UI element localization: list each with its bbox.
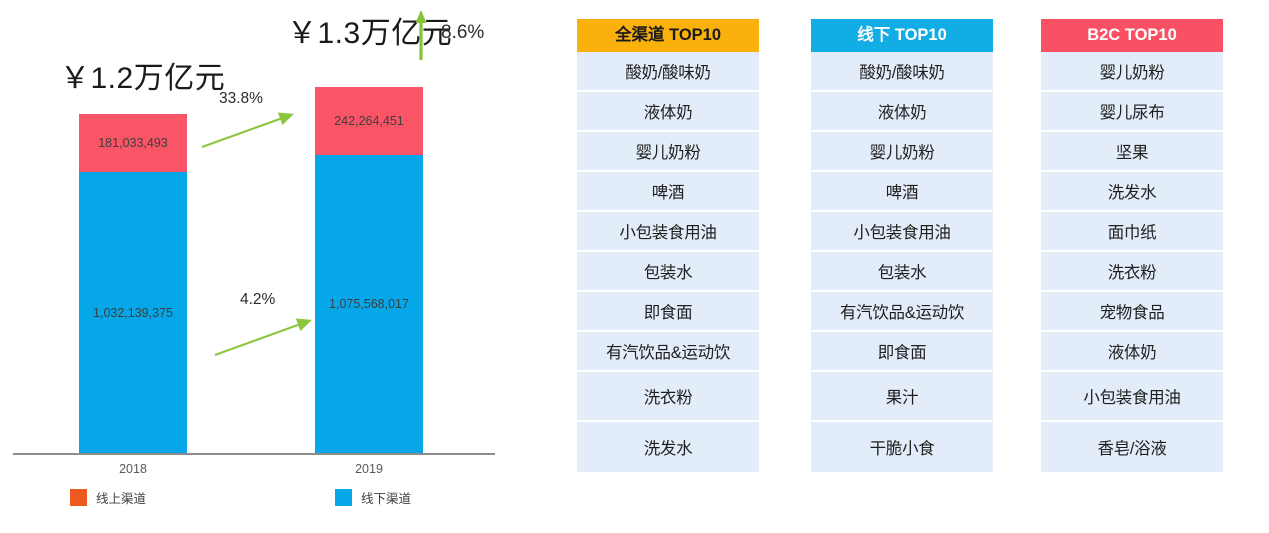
bar-value-online-2018: 181,033,493 (92, 135, 174, 152)
table-cell: 酸奶/酸味奶 (625, 59, 710, 83)
table-row[interactable]: 液体奶 (1041, 332, 1223, 372)
table-row[interactable]: 婴儿尿布 (1041, 92, 1223, 132)
table-cell: 有汽饮品&运动饮 (840, 299, 964, 323)
table-cell: 液体奶 (644, 99, 693, 123)
legend-label-offline: 线下渠道 (361, 488, 411, 507)
bar-segment-online-2019[interactable]: 242,264,451 (315, 87, 423, 155)
table-header-offline: 线下 TOP10 (811, 19, 993, 52)
top10-table-offline: 线下 TOP10 酸奶/酸味奶 液体奶 婴儿奶粉 啤酒 小包装食用油 包装水 有… (811, 19, 993, 472)
table-row[interactable]: 洗衣粉 (577, 372, 759, 422)
table-cell: 液体奶 (1108, 339, 1157, 363)
arrow-up-icon (415, 10, 427, 60)
legend-item-offline[interactable]: 线下渠道 (335, 488, 411, 507)
table-cell: 洗发水 (644, 435, 693, 459)
legend-swatch-offline-icon (335, 489, 352, 506)
table-cell: 香皂/浴液 (1097, 435, 1166, 459)
table-row[interactable]: 婴儿奶粉 (811, 132, 993, 172)
table-row[interactable]: 婴儿奶粉 (1041, 52, 1223, 92)
chart-legend: 线上渠道 线下渠道 (0, 488, 520, 518)
table-cell: 啤酒 (886, 179, 918, 203)
table-cell: 即食面 (644, 299, 693, 323)
table-row[interactable]: 小包装食用油 (811, 212, 993, 252)
table-cell: 洗衣粉 (1108, 259, 1157, 283)
table-cell: 婴儿奶粉 (636, 139, 701, 163)
table-row[interactable]: 包装水 (577, 252, 759, 292)
table-row[interactable]: 洗发水 (577, 422, 759, 472)
table-cell: 婴儿奶粉 (1100, 59, 1165, 83)
table-cell: 酸奶/酸味奶 (859, 59, 944, 83)
table-cell: 宠物食品 (1100, 299, 1165, 323)
x-tick-2019: 2019 (309, 462, 429, 476)
growth-annotation-online: 33.8% (219, 90, 263, 108)
table-row[interactable]: 小包装食用油 (577, 212, 759, 252)
table-cell: 小包装食用油 (619, 219, 716, 243)
table-row[interactable]: 洗发水 (1041, 172, 1223, 212)
bar-value-offline-2018: 1,032,139,375 (87, 305, 179, 322)
table-cell: 婴儿尿布 (1100, 99, 1165, 123)
x-tick-2018: 2018 (73, 462, 193, 476)
bar-value-offline-2019: 1,075,568,017 (323, 296, 415, 313)
table-row[interactable]: 小包装食用油 (1041, 372, 1223, 422)
table-row[interactable]: 坚果 (1041, 132, 1223, 172)
table-row[interactable]: 酸奶/酸味奶 (811, 52, 993, 92)
table-cell: 小包装食用油 (1083, 384, 1180, 408)
legend-item-online[interactable]: 线上渠道 (70, 488, 146, 507)
legend-swatch-online-icon (70, 489, 87, 506)
table-row[interactable]: 婴儿奶粉 (577, 132, 759, 172)
bar-column-2018[interactable]: 181,033,493 1,032,139,375 (79, 114, 187, 454)
table-header-all-channel: 全渠道 TOP10 (577, 19, 759, 52)
table-row[interactable]: 面巾纸 (1041, 212, 1223, 252)
table-row[interactable]: 果汁 (811, 372, 993, 422)
table-cell: 干脆小食 (870, 435, 935, 459)
table-cell: 有汽饮品&运动饮 (606, 339, 730, 363)
table-row[interactable]: 酸奶/酸味奶 (577, 52, 759, 92)
table-row[interactable]: 香皂/浴液 (1041, 422, 1223, 472)
slide-canvas: ￥1.2万亿元 ￥1.3万亿元 8.6% 181,033,493 1,032,1… (0, 0, 1269, 533)
table-row[interactable]: 即食面 (811, 332, 993, 372)
table-row[interactable]: 液体奶 (577, 92, 759, 132)
table-row[interactable]: 宠物食品 (1041, 292, 1223, 332)
table-row[interactable]: 洗衣粉 (1041, 252, 1223, 292)
table-row[interactable]: 有汽饮品&运动饮 (811, 292, 993, 332)
table-cell: 包装水 (878, 259, 927, 283)
growth-annotation-offline: 4.2% (240, 291, 275, 309)
table-header-b2c: B2C TOP10 (1041, 19, 1223, 52)
bar-segment-offline-2018[interactable]: 1,032,139,375 (79, 172, 187, 454)
top10-table-all-channel: 全渠道 TOP10 酸奶/酸味奶 液体奶 婴儿奶粉 啤酒 小包装食用油 包装水 … (577, 19, 759, 472)
bar-value-online-2019: 242,264,451 (328, 113, 410, 130)
total-label-2019: ￥1.3万亿元 (287, 8, 452, 52)
table-row[interactable]: 即食面 (577, 292, 759, 332)
total-growth-percent: 8.6% (441, 22, 484, 44)
table-row[interactable]: 干脆小食 (811, 422, 993, 472)
table-cell: 包装水 (644, 259, 693, 283)
legend-label-online: 线上渠道 (96, 488, 146, 507)
table-cell: 液体奶 (878, 99, 927, 123)
table-cell: 洗发水 (1108, 179, 1157, 203)
table-cell: 果汁 (886, 384, 918, 408)
stacked-bar-chart: ￥1.2万亿元 ￥1.3万亿元 8.6% 181,033,493 1,032,1… (0, 0, 560, 533)
table-cell: 婴儿奶粉 (870, 139, 935, 163)
top10-table-b2c: B2C TOP10 婴儿奶粉 婴儿尿布 坚果 洗发水 面巾纸 洗衣粉 宠物食品 … (1041, 19, 1223, 472)
table-row[interactable]: 液体奶 (811, 92, 993, 132)
table-row[interactable]: 有汽饮品&运动饮 (577, 332, 759, 372)
x-axis-line (13, 453, 495, 455)
table-cell: 小包装食用油 (853, 219, 950, 243)
table-cell: 即食面 (878, 339, 927, 363)
table-cell: 洗衣粉 (644, 384, 693, 408)
bar-segment-offline-2019[interactable]: 1,075,568,017 (315, 155, 423, 454)
table-cell: 面巾纸 (1108, 219, 1157, 243)
bar-segment-online-2018[interactable]: 181,033,493 (79, 114, 187, 172)
table-row[interactable]: 啤酒 (811, 172, 993, 212)
table-cell: 啤酒 (652, 179, 684, 203)
table-row[interactable]: 包装水 (811, 252, 993, 292)
table-cell: 坚果 (1116, 139, 1148, 163)
table-row[interactable]: 啤酒 (577, 172, 759, 212)
bar-column-2019[interactable]: 242,264,451 1,075,568,017 (315, 87, 423, 454)
